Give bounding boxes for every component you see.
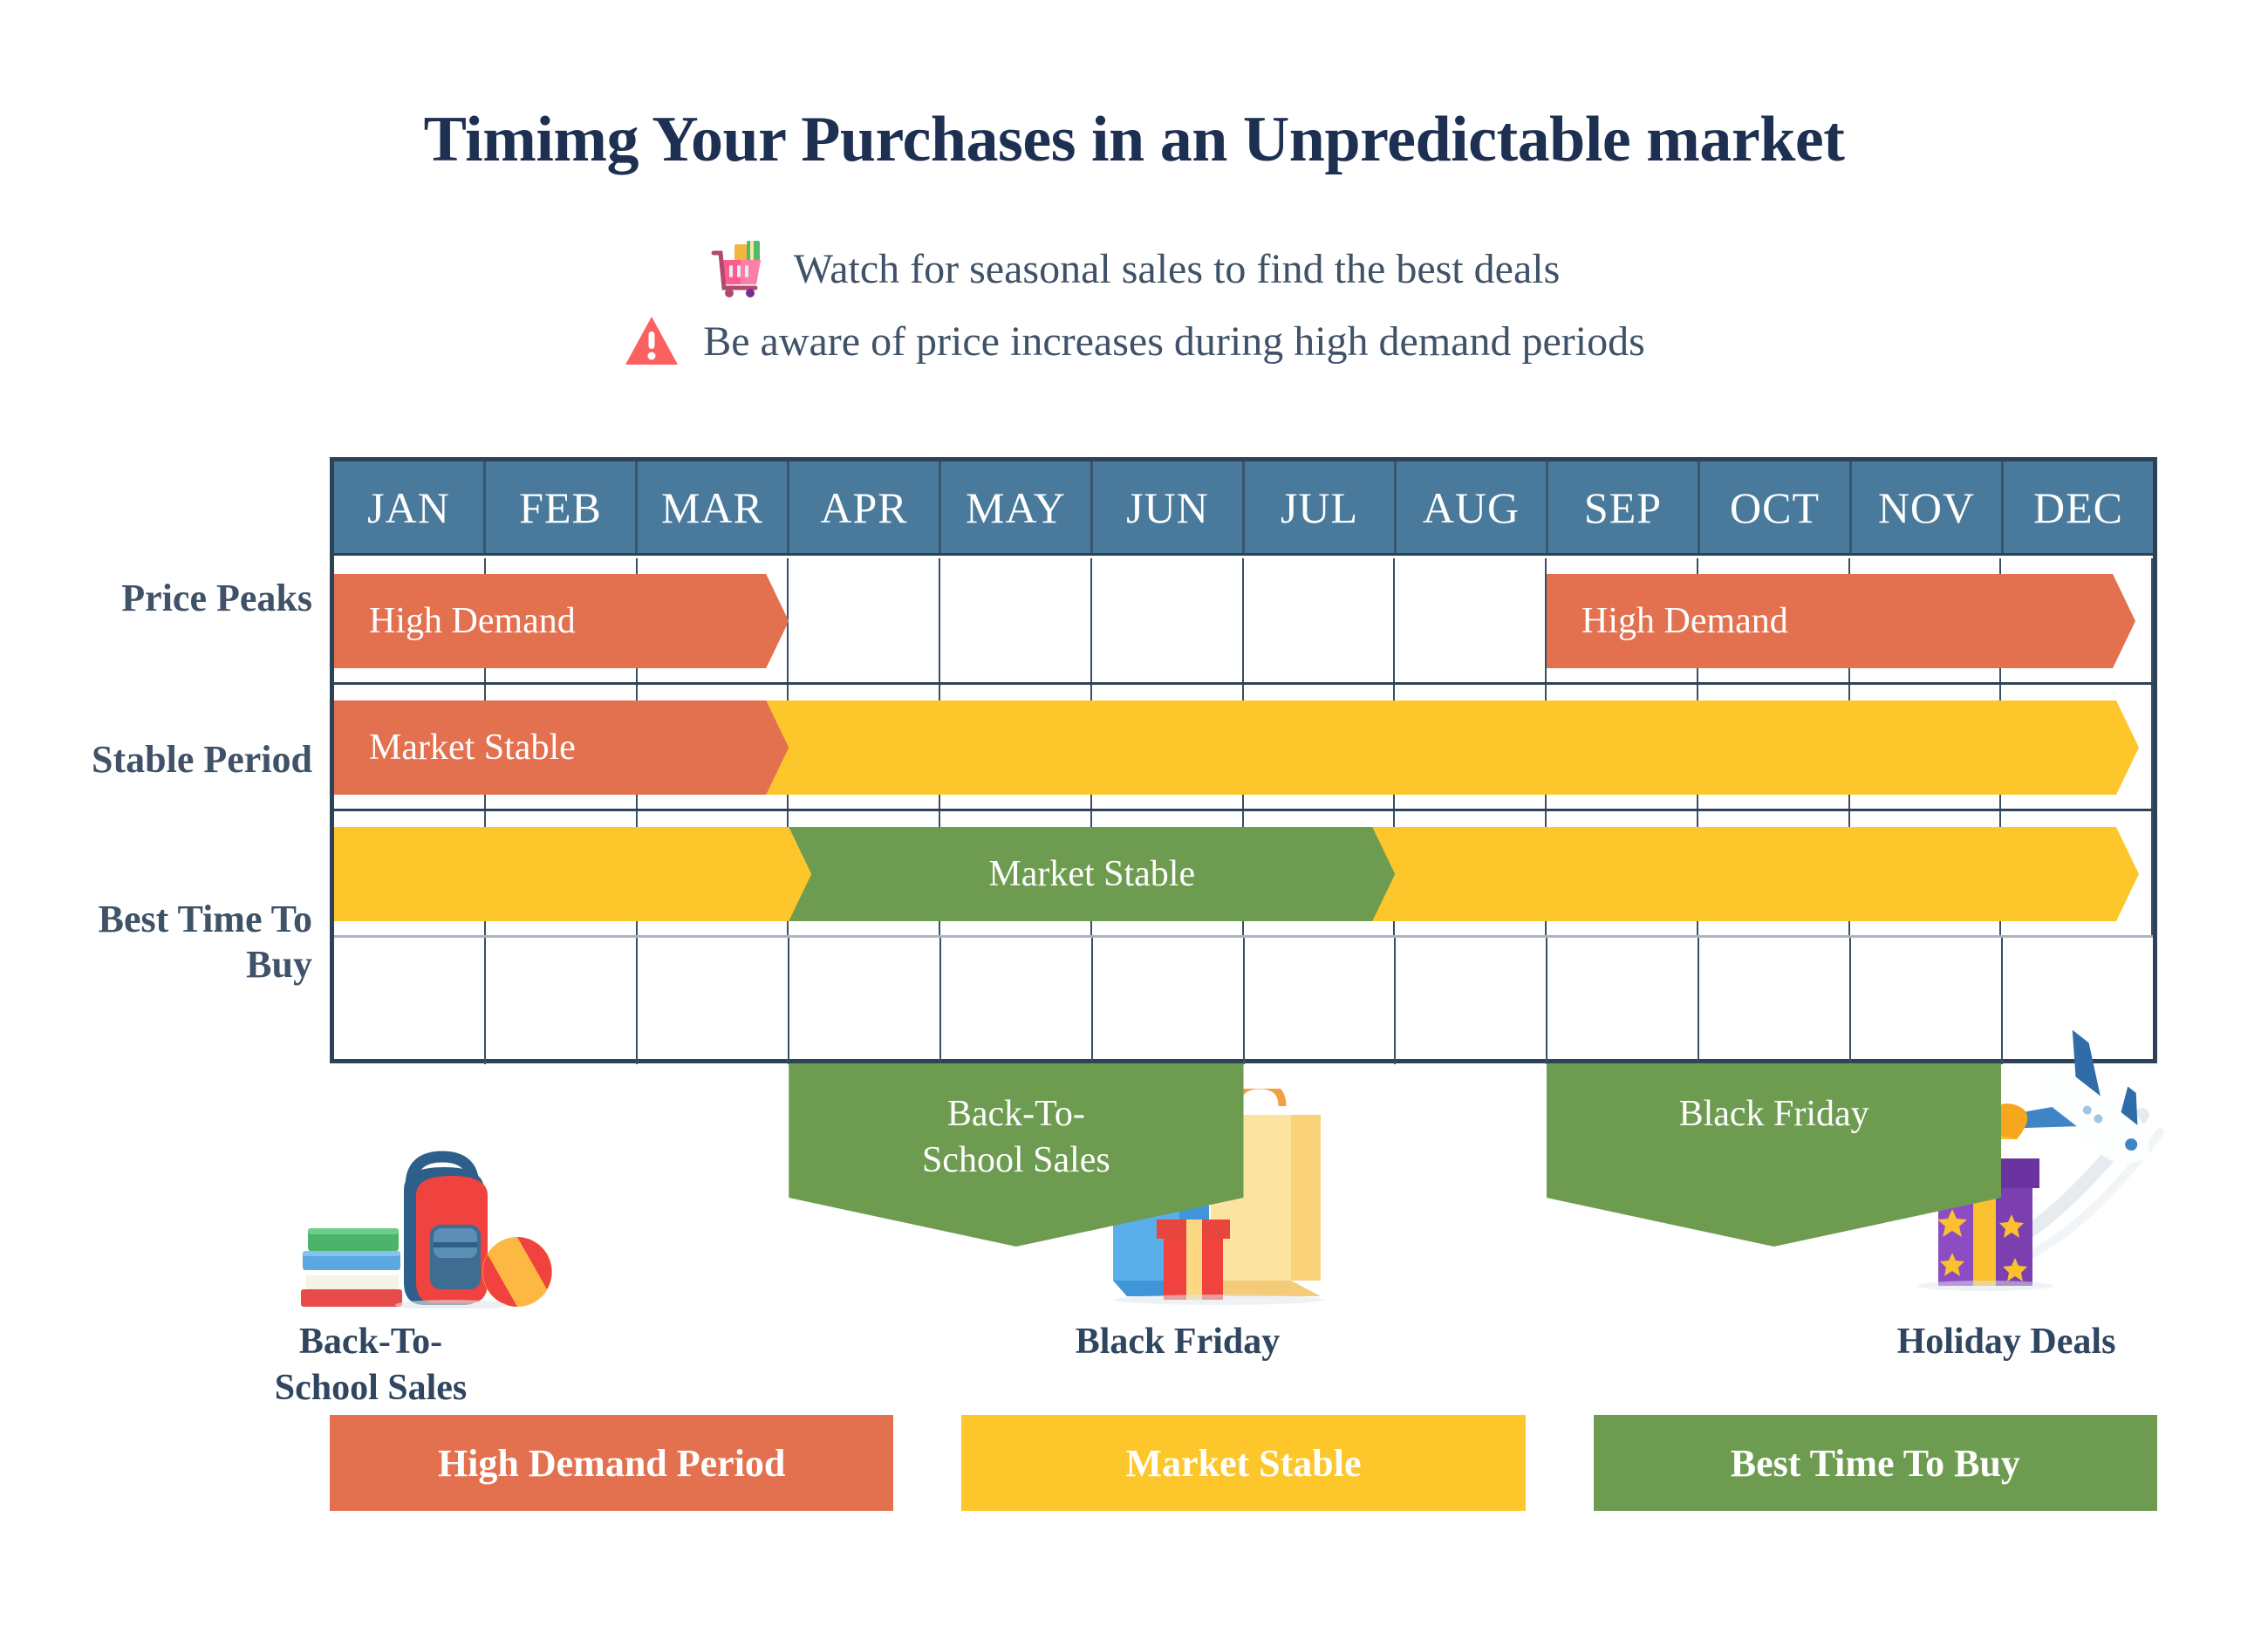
banner-label: Back-To-School Sales (922, 1063, 1110, 1184)
grid-cell (789, 811, 940, 935)
grid-cell (940, 811, 1092, 935)
grid-cell (1547, 558, 1698, 682)
grid-cell (638, 685, 789, 809)
grid-cell (1547, 938, 1699, 1064)
grid-cell (940, 685, 1092, 809)
backpack-books-illustration (301, 1134, 667, 1308)
grid-cell (486, 558, 638, 682)
grid-cell (1092, 685, 1244, 809)
month-header-jul[interactable]: JUL (1245, 461, 1397, 553)
caption-holiday-deals: Holiday Deals (1858, 1319, 2155, 1365)
grid-cell (789, 685, 940, 809)
grid-cell (486, 811, 638, 935)
bullet-text-price-increases: Be aware of price increases during high … (703, 318, 1645, 366)
month-header-may[interactable]: MAY (941, 461, 1093, 553)
infographic-canvas: Timimg Your Purchases in an Unpredictabl… (0, 0, 2268, 1633)
month-header-feb[interactable]: FEB (486, 461, 638, 553)
legend-item-high-demand-period[interactable]: High Demand Period (330, 1415, 893, 1511)
seasonal-timeline-table: JAN FEB MAR APR MAY JUN JUL AUG SEP OCT … (330, 457, 2157, 1063)
grid-cell (1244, 685, 1396, 809)
month-header-jun[interactable]: JUN (1093, 461, 1245, 553)
grid-cell (941, 938, 1093, 1064)
subtitle-block: Watch for seasonal sales to find the bes… (0, 237, 2268, 382)
grid-cell (486, 685, 638, 809)
month-header-sep[interactable]: SEP (1548, 461, 1700, 553)
grid-cell (1699, 938, 1851, 1064)
grid-cell (1850, 811, 2002, 935)
bullet-text-seasonal-sales: Watch for seasonal sales to find the bes… (794, 245, 1561, 293)
grid-cell (1547, 811, 1698, 935)
timeline-row-best-time-to-buy: Market Stable (334, 811, 2153, 938)
grid-cell (1698, 685, 1850, 809)
grid-cell (638, 558, 789, 682)
grid-cell (1395, 811, 1547, 935)
bullet-row-seasonal-sales: Watch for seasonal sales to find the bes… (0, 237, 2268, 300)
month-header-jan[interactable]: JAN (334, 461, 486, 553)
grid-cell (1698, 558, 1850, 682)
grid-cell (638, 938, 789, 1064)
caption-black-friday: Black Friday (1047, 1319, 1308, 1365)
legend-label: High Demand Period (438, 1441, 785, 1486)
grid-cell (1092, 558, 1244, 682)
timeline-rows: High Demand High Demand (334, 558, 2153, 1065)
grid-cell (334, 685, 486, 809)
grid-cell (1547, 685, 1698, 809)
grid-cell (789, 938, 941, 1064)
grid-cell (1395, 685, 1547, 809)
grid-cell (2001, 811, 2153, 935)
grid-cell (1698, 811, 1850, 935)
grid-cell (1244, 811, 1396, 935)
month-header-aug[interactable]: AUG (1397, 461, 1548, 553)
grid-cell (1850, 558, 2002, 682)
month-header-apr[interactable]: APR (789, 461, 941, 553)
row-label-stable-period: Stable Period (24, 737, 312, 782)
grid-cell (789, 558, 940, 682)
row-label-best-time-to-buy: Best Time To Buy (24, 897, 312, 987)
warning-triangle-icon (623, 312, 680, 370)
grid-cell (1395, 558, 1547, 682)
grid-cell (1093, 938, 1245, 1064)
legend-item-market-stable[interactable]: Market Stable (961, 1415, 1525, 1511)
legend-label: Best Time To Buy (1731, 1441, 2020, 1486)
legend-label: Market Stable (1125, 1441, 1361, 1486)
grid-cell (334, 558, 486, 682)
grid-cell (1396, 938, 1547, 1064)
grid-cell (638, 811, 789, 935)
legend: High Demand Period Market Stable Best Ti… (330, 1415, 2157, 1511)
grid-cell (334, 938, 486, 1064)
banner-label: Black Friday (1679, 1063, 1869, 1138)
month-header-row: JAN FEB MAR APR MAY JUN JUL AUG SEP OCT … (334, 461, 2153, 556)
month-header-mar[interactable]: MAR (638, 461, 789, 553)
grid-cell (940, 558, 1092, 682)
grid-cell (1092, 811, 1244, 935)
grid-cell (2001, 558, 2153, 682)
grid-cell (1245, 938, 1397, 1064)
timeline-row-stable-period: Market Stable (334, 685, 2153, 811)
row-label-price-peaks: Price Peaks (24, 576, 312, 621)
shopping-cart-icon (708, 237, 771, 300)
grid-cell (1850, 685, 2002, 809)
caption-back-to-school-sales: Back-To-School Sales (240, 1319, 502, 1411)
month-header-dec[interactable]: DEC (2004, 461, 2153, 553)
bullet-row-price-increases: Be aware of price increases during high … (0, 312, 2268, 370)
grid-cell (334, 811, 486, 935)
grid-cell (1244, 558, 1396, 682)
grid-cell (2001, 685, 2153, 809)
month-header-nov[interactable]: NOV (1852, 461, 2004, 553)
page-title: Timimg Your Purchases in an Unpredictabl… (0, 103, 2268, 177)
month-header-oct[interactable]: OCT (1700, 461, 1852, 553)
legend-item-best-time-to-buy[interactable]: Best Time To Buy (1594, 1415, 2157, 1511)
timeline-row-price-peaks: High Demand High Demand (334, 558, 2153, 685)
grid-cell (486, 938, 638, 1064)
